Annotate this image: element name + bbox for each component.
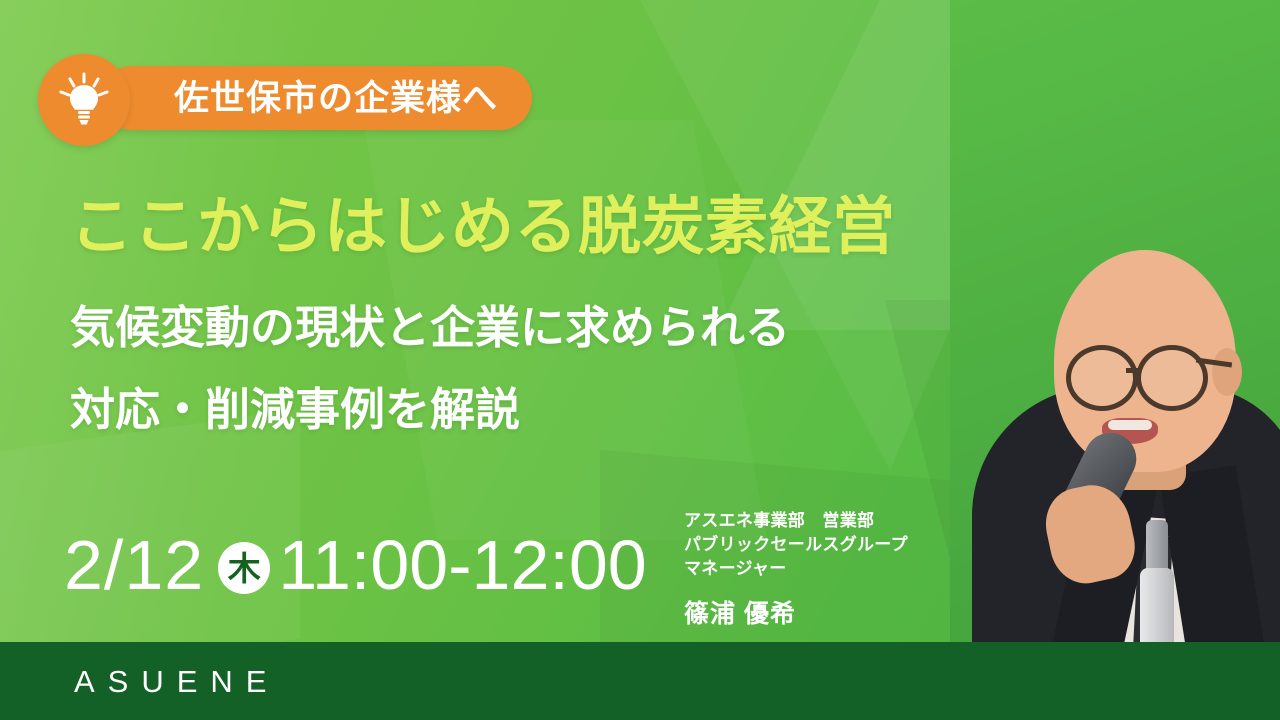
badge-pill: 佐世保市の企業様へ (100, 66, 532, 130)
speaker-affiliation-line-2: パブリックセールスグループ (684, 533, 908, 557)
event-date: 2/12 (64, 530, 204, 600)
footer-bar: ASUENE (0, 642, 1280, 720)
asuene-logo: ASUENE (74, 666, 279, 697)
teeth-shape (1108, 420, 1152, 430)
weekday-label: 木 (228, 552, 261, 585)
page-title: ここからはじめる脱炭素経営 (70, 196, 896, 259)
speaker-affiliation-line-1: アスエネ事業部 営業部 (684, 509, 908, 533)
speaker-name: 篠浦 優希 (684, 594, 908, 630)
ear-shape (1212, 348, 1242, 396)
glasses-bridge (1126, 368, 1140, 373)
glasses-lens-left (1066, 345, 1138, 411)
lightbulb-icon (38, 54, 130, 146)
presenter-photo (950, 0, 1280, 720)
speaker-affiliation-line-3: マネージャー (684, 557, 908, 581)
weekday-badge: 木 (218, 542, 270, 594)
speaker-info: アスエネ事業部 営業部 パブリックセールスグループ マネージャー 篠浦 優希 (684, 509, 908, 630)
event-time: 11:00-12:00 (278, 530, 646, 600)
webinar-banner: 佐世保市の企業様へ ここからはじめる脱炭素経営 気候変動の現状と企業に求められる… (0, 0, 1280, 720)
subtitle-line-2: 対応・削減事例を解説 (70, 387, 520, 432)
glasses-lens-right (1136, 345, 1208, 411)
schedule-row: 2/12 木 11:00-12:00 (64, 530, 647, 600)
badge-label: 佐世保市の企業様へ (174, 81, 498, 116)
subtitle-line-1: 気候変動の現状と企業に求められる (70, 305, 790, 350)
